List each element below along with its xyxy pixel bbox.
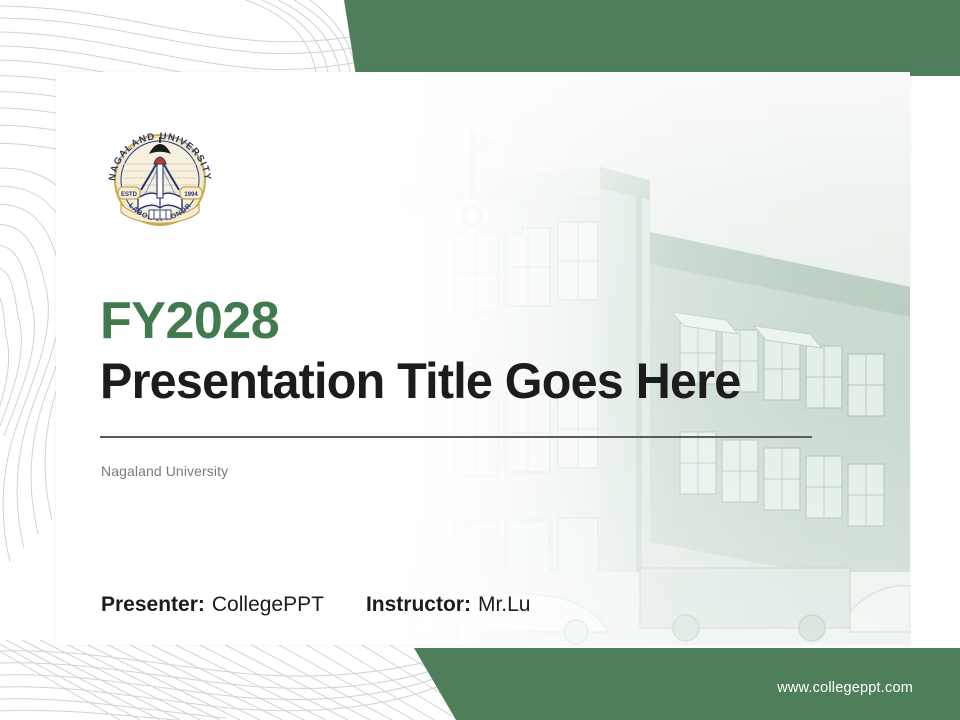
presentation-slide: NAGALAND UNIVERSITY ESTD 1994 LABOR et H… [0,0,960,720]
nagaland-university-seal-icon: NAGALAND UNIVERSITY ESTD 1994 LABOR et H… [101,124,219,236]
institution-subtitle: Nagaland University [101,463,228,479]
instructor-label: Instructor: [366,593,471,617]
title-divider [100,436,812,438]
svg-text:1994: 1994 [184,192,198,198]
presenter-name: CollegePPT [212,593,324,617]
presenter-label: Presenter: [101,593,205,617]
page-title: Presentation Title Goes Here [100,355,740,408]
instructor-name: Mr.Lu [478,593,531,617]
green-accent-top [0,0,960,76]
credits-row: Presenter: CollegePPT Instructor: Mr.Lu [101,593,530,617]
website-url[interactable]: www.collegeppt.com [777,680,913,696]
instructor-credit: Instructor: Mr.Lu [366,593,531,617]
presenter-credit: Presenter: CollegePPT [101,593,324,617]
svg-text:ESTD: ESTD [121,192,138,198]
fiscal-year-heading: FY2028 [100,295,760,347]
title-block: FY2028 Presentation Title Goes Here [100,295,760,408]
